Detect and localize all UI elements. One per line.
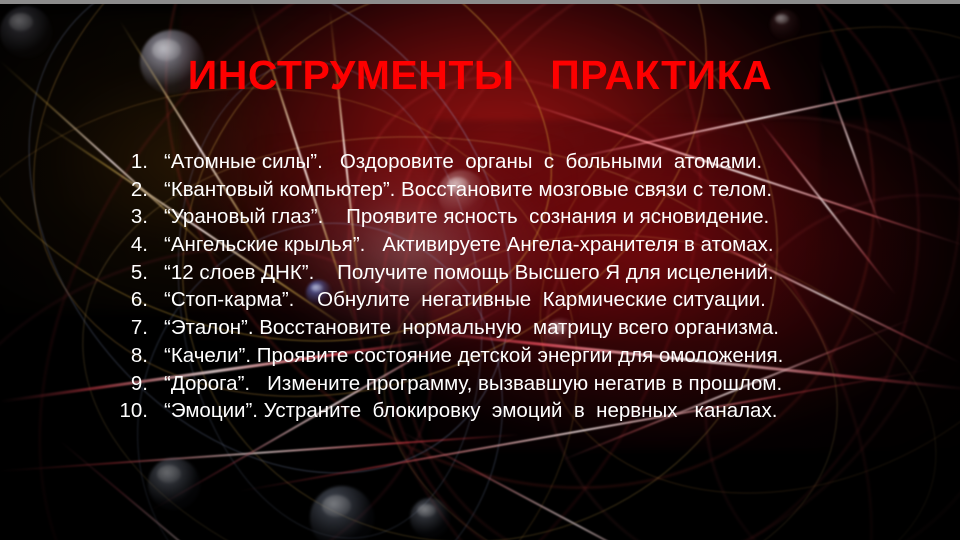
list-item-number: 4. (0, 233, 148, 257)
list-item: 7.“Эталон”. Восстановите нормальную матр… (0, 316, 960, 344)
list-item-number: 9. (0, 372, 148, 396)
list-item-number: 5. (0, 261, 148, 285)
list-item-text: “Квантовый компьютер”. Восстановите мозг… (148, 178, 772, 202)
slide-title: ИНСТРУМЕНТЫ ПРАКТИКА (0, 54, 960, 97)
numbered-list: 1.“Атомные силы”. Оздоровите органы с бо… (0, 150, 960, 427)
list-item: 10.“Эмоции”. Устраните блокировку эмоций… (0, 399, 960, 427)
list-item: 8.“Качели”. Проявите состояние детской э… (0, 344, 960, 372)
list-item-text: “Стоп-карма”. Обнулите негативные Кармич… (148, 288, 766, 312)
list-item-text: “Эмоции”. Устраните блокировку эмоций в … (148, 399, 777, 423)
list-item-text: “12 слоев ДНК”. Получите помощь Высшего … (148, 261, 774, 285)
list-item-number: 2. (0, 178, 148, 202)
list-item: 3.“Урановый глаз”. Проявите ясность созн… (0, 205, 960, 233)
list-item: 9.“Дорога”. Измените программу, вызвавшу… (0, 372, 960, 400)
list-item-text: “Ангельские крылья”. Активируете Ангела-… (148, 233, 774, 257)
slide-content: ИНСТРУМЕНТЫ ПРАКТИКА 1.“Атомные силы”. О… (0, 0, 960, 540)
list-item: 4.“Ангельские крылья”. Активируете Ангел… (0, 233, 960, 261)
list-item-number: 3. (0, 205, 148, 229)
top-border-strip (0, 0, 960, 4)
list-item-number: 6. (0, 288, 148, 312)
list-item: 1.“Атомные силы”. Оздоровите органы с бо… (0, 150, 960, 178)
list-item-text: “Атомные силы”. Оздоровите органы с боль… (148, 150, 762, 174)
list-item-text: “Дорога”. Измените программу, вызвавшую … (148, 372, 782, 396)
list-item: 6.“Стоп-карма”. Обнулите негативные Карм… (0, 288, 960, 316)
list-item-text: “Эталон”. Восстановите нормальную матриц… (148, 316, 779, 340)
list-item: 2.“Квантовый компьютер”. Восстановите мо… (0, 178, 960, 206)
list-item-text: “Качели”. Проявите состояние детской эне… (148, 344, 783, 368)
list-item-number: 8. (0, 344, 148, 368)
list-item-text: “Урановый глаз”. Проявите ясность сознан… (148, 205, 769, 229)
list-item-number: 10. (0, 399, 148, 423)
list-item: 5.“12 слоев ДНК”. Получите помощь Высшег… (0, 261, 960, 289)
list-item-number: 7. (0, 316, 148, 340)
list-item-number: 1. (0, 150, 148, 174)
presentation-slide: ИНСТРУМЕНТЫ ПРАКТИКА 1.“Атомные силы”. О… (0, 0, 960, 540)
